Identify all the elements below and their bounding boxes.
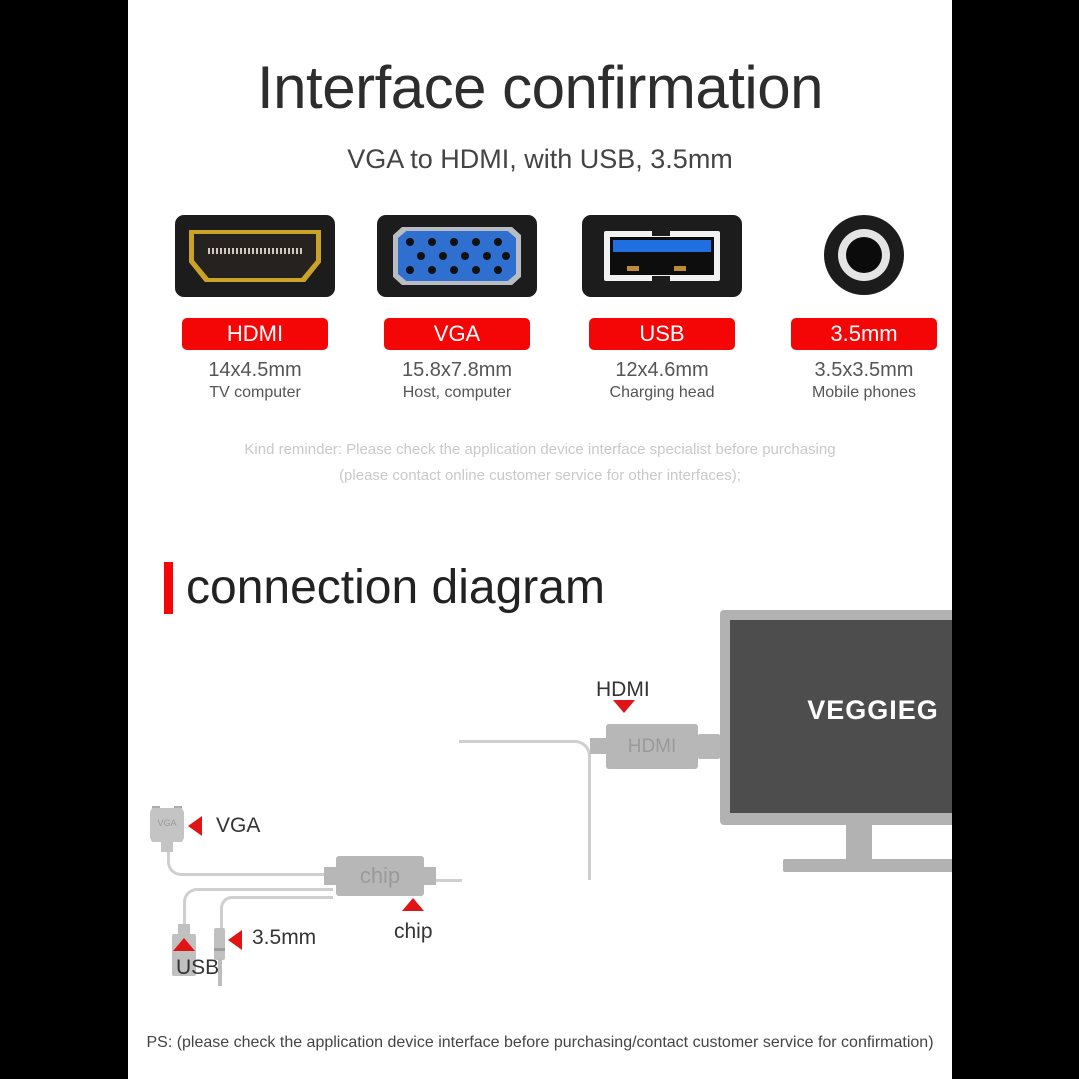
connector-card-audio: 3.5mm 3.5x3.5mm Mobile phones: [773, 215, 952, 402]
page-title: Interface confirmation: [128, 55, 952, 121]
cable-chip-to-hdmi: [459, 740, 591, 880]
connector-card-vga: VGA 15.8x7.8mm Host, computer: [366, 215, 548, 402]
vga-connector-stem: [161, 841, 173, 852]
reminder-line-2: (please contact online customer service …: [128, 463, 952, 489]
callout-label-vga: VGA: [216, 814, 260, 838]
connector-badge-usb: USB: [589, 318, 735, 350]
callout-label-chip: chip: [394, 920, 433, 944]
hdmi-plug: HDMI: [606, 724, 698, 769]
page-subtitle: VGA to HDMI, with USB, 3.5mm: [128, 144, 952, 175]
cable-vga-to-chip: [167, 852, 337, 876]
reminder-line-1: Kind reminder: Please check the applicat…: [128, 437, 952, 463]
vga-port-icon: [377, 215, 537, 297]
connector-dimension-audio: 3.5x3.5mm: [773, 359, 952, 382]
callout-label-usb: USB: [176, 956, 219, 980]
arrow-up-icon-usb: [173, 938, 195, 951]
monitor-brand-logo: VEGGIEG: [730, 695, 952, 726]
connector-badge-audio: 3.5mm: [791, 318, 937, 350]
vga-connector-label: VGA: [150, 818, 184, 828]
connector-list: HDMI 14x4.5mm TV computer VGA 15.8x7.8mm…: [128, 215, 952, 415]
connector-card-hdmi: HDMI 14x4.5mm TV computer: [164, 215, 346, 402]
chip-body: chip: [336, 856, 424, 896]
connector-usage-vga: Host, computer: [366, 384, 548, 402]
usb-port-notch: [652, 231, 670, 236]
arrow-up-icon-chip: [402, 898, 424, 911]
hdmi-port-icon: [175, 215, 335, 297]
arrow-left-icon-vga: [188, 816, 202, 836]
reminder-note: Kind reminder: Please check the applicat…: [128, 437, 952, 489]
audio-jack-icon: [784, 215, 944, 297]
usb-port-notch: [652, 276, 670, 281]
connector-usage-hdmi: TV computer: [164, 384, 346, 402]
connector-badge-hdmi: HDMI: [182, 318, 328, 350]
audio-jack-hole: [846, 237, 882, 273]
image-canvas: Interface confirmation VGA to HDMI, with…: [0, 0, 1079, 1079]
usb-port-blue-insert: [613, 240, 711, 252]
connector-usage-audio: Mobile phones: [773, 384, 952, 402]
usb-port-contact: [627, 266, 639, 271]
content-panel: Interface confirmation VGA to HDMI, with…: [128, 0, 952, 1079]
cable-chip-to-hdmi-elbow: [436, 866, 462, 882]
monitor-stand-base: [783, 859, 952, 872]
connector-card-usb: USB 12x4.6mm Charging head: [571, 215, 753, 402]
hdmi-port-pins: [208, 248, 302, 254]
hdmi-plug-tab: [698, 734, 720, 759]
footer-note: PS: (please check the application device…: [128, 1034, 952, 1052]
connector-dimension-vga: 15.8x7.8mm: [366, 359, 548, 382]
connector-dimension-hdmi: 14x4.5mm: [164, 359, 346, 382]
vga-port-pins: [404, 236, 510, 276]
usb-port-contact: [674, 266, 686, 271]
callout-label-hdmi: HDMI: [596, 678, 650, 702]
connector-usage-usb: Charging head: [571, 384, 753, 402]
cable-aux-to-chip: [220, 896, 333, 930]
usb-port-icon: [582, 215, 742, 297]
aux-plug-band: [214, 948, 225, 951]
connection-diagram: VEGGIEG HDMI chip VGA: [128, 600, 952, 1020]
connector-dimension-usb: 12x4.6mm: [571, 359, 753, 382]
connector-badge-vga: VGA: [384, 318, 530, 350]
chip-right-port: [422, 867, 436, 885]
arrow-left-icon-aux: [228, 930, 242, 950]
callout-label-aux: 3.5mm: [252, 926, 316, 950]
hdmi-port-inner: [194, 234, 316, 278]
